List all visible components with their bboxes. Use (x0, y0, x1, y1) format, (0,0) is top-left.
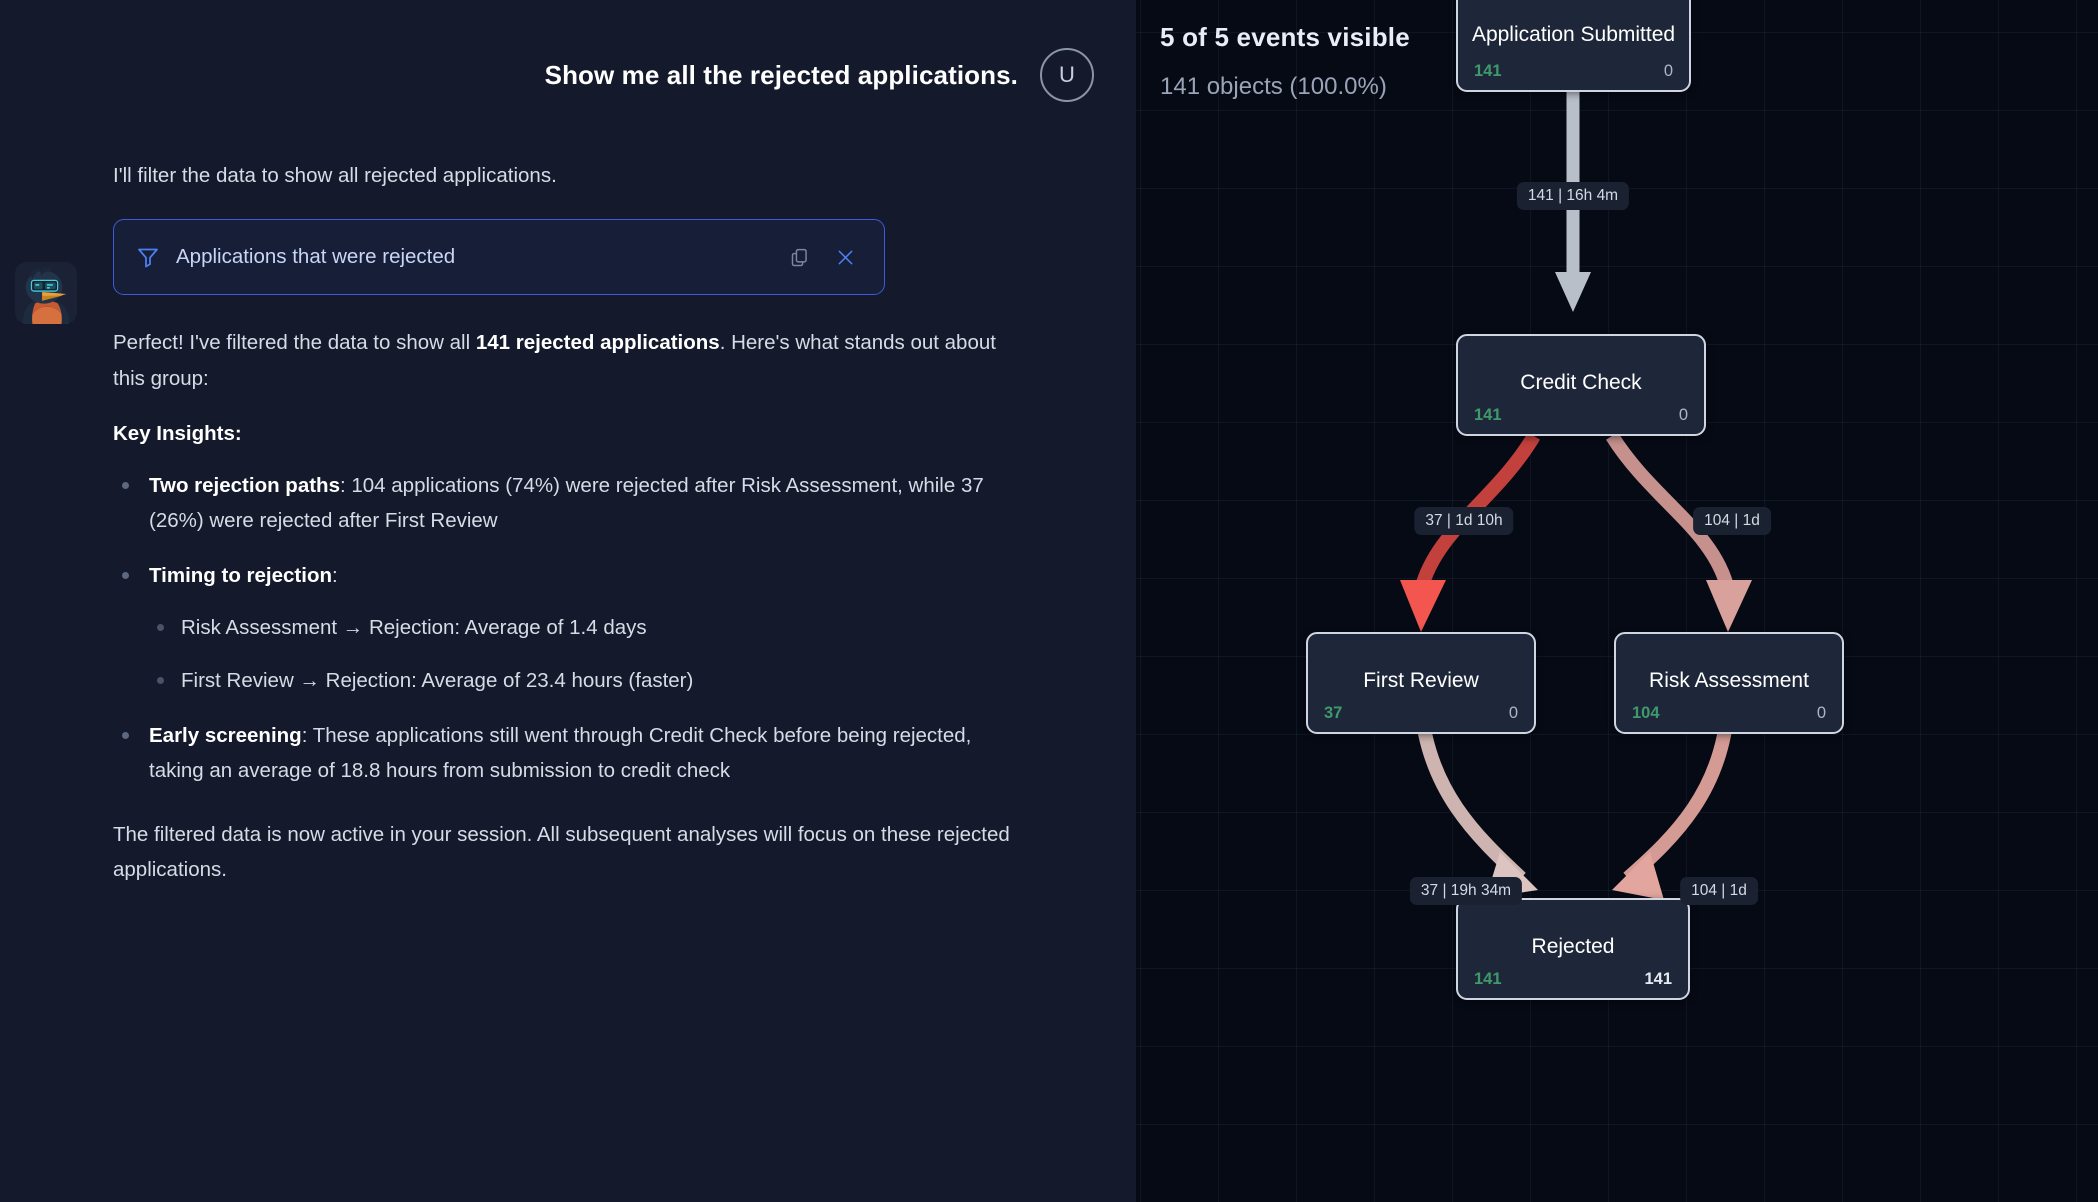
edge-first-to-rejected (1421, 706, 1538, 898)
node-start-count: 141 (1474, 970, 1502, 989)
edge-label-credit-to-risk: 104 | 1d (1693, 507, 1771, 535)
insights-list: Two rejection paths: 104 applications (7… (113, 468, 1023, 789)
assistant-message-body: I'll filter the data to show all rejecte… (113, 158, 1063, 913)
node-label: Credit Check (1458, 371, 1704, 395)
node-end-count: 0 (1679, 406, 1688, 425)
node-end-count: 141 (1644, 970, 1672, 989)
node-start-count: 104 (1632, 704, 1660, 723)
chat-panel: Show me all the rejected applications. U (0, 0, 1136, 1202)
summary-paragraph: Perfect! I've filtered the data to show … (113, 325, 1023, 396)
graph-edges (1136, 0, 2098, 1202)
edge-label-risk-to-rejected: 104 | 1d (1680, 877, 1758, 905)
filter-label: Applications that were rejected (176, 245, 768, 269)
node-end-count: 0 (1817, 704, 1826, 723)
close-icon[interactable] (830, 242, 860, 272)
summary-pre: Perfect! I've filtered the data to show … (113, 331, 476, 354)
closing-paragraph: The filtered data is now active in your … (113, 817, 1023, 888)
edge-label-credit-to-first: 37 | 1d 10h (1414, 507, 1513, 535)
node-label: First Review (1308, 669, 1534, 693)
assistant-avatar (15, 262, 77, 324)
copy-icon[interactable] (784, 242, 814, 272)
timing-sublist: Risk Assessment → Rejection: Average of … (149, 610, 1023, 699)
bullet-bold: Early screening (149, 724, 302, 747)
bird-mascot-icon (15, 262, 77, 324)
app-root: Show me all the rejected applications. U (0, 0, 2098, 1202)
funnel-icon (136, 245, 160, 269)
user-avatar-initial: U (1059, 62, 1075, 88)
node-label: Risk Assessment (1616, 669, 1842, 693)
list-item: First Review → Rejection: Average of 23.… (149, 663, 1023, 698)
edge-risk-to-rejected (1612, 706, 1728, 900)
bullet-text: : (332, 564, 338, 587)
list-item: Timing to rejection: Risk Assessment → R… (113, 558, 1023, 698)
node-start-count: 37 (1324, 704, 1342, 723)
node-end-count: 0 (1664, 62, 1673, 81)
bullet-bold: Timing to rejection (149, 564, 332, 587)
edge-label-first-to-rejected: 37 | 19h 34m (1410, 877, 1522, 905)
assistant-message-block: I'll filter the data to show all rejecte… (0, 102, 1136, 913)
summary-bold: 141 rejected applications (476, 331, 720, 354)
edge-label-submitted-to-credit: 141 | 16h 4m (1517, 182, 1629, 210)
user-avatar[interactable]: U (1040, 48, 1094, 102)
node-credit-check[interactable]: Credit Check 141 0 (1456, 334, 1706, 436)
user-message-row: Show me all the rejected applications. U (0, 0, 1136, 102)
bullet-bold: Two rejection paths (149, 474, 340, 497)
node-rejected[interactable]: Rejected 141 141 (1456, 898, 1690, 1000)
node-risk-assessment[interactable]: Risk Assessment 104 0 (1614, 632, 1844, 734)
node-end-count: 0 (1509, 704, 1518, 723)
user-message-text: Show me all the rejected applications. (545, 60, 1018, 91)
assistant-intro-text: I'll filter the data to show all rejecte… (113, 158, 1023, 193)
list-item: Early screening: These applications stil… (113, 718, 1023, 789)
node-label: Application Submitted (1458, 23, 1689, 47)
node-application-submitted[interactable]: Application Submitted 141 0 (1456, 0, 1691, 92)
process-graph-panel[interactable]: 5 of 5 events visible 141 objects (100.0… (1136, 0, 2098, 1202)
node-start-count: 141 (1474, 406, 1502, 425)
filter-chip-card[interactable]: Applications that were rejected (113, 219, 885, 295)
list-item: Risk Assessment → Rejection: Average of … (149, 610, 1023, 645)
node-start-count: 141 (1474, 62, 1502, 81)
node-first-review[interactable]: First Review 37 0 (1306, 632, 1536, 734)
key-insights-heading: Key Insights: (113, 422, 1023, 446)
node-label: Rejected (1458, 935, 1688, 959)
list-item: Two rejection paths: 104 applications (7… (113, 468, 1023, 539)
